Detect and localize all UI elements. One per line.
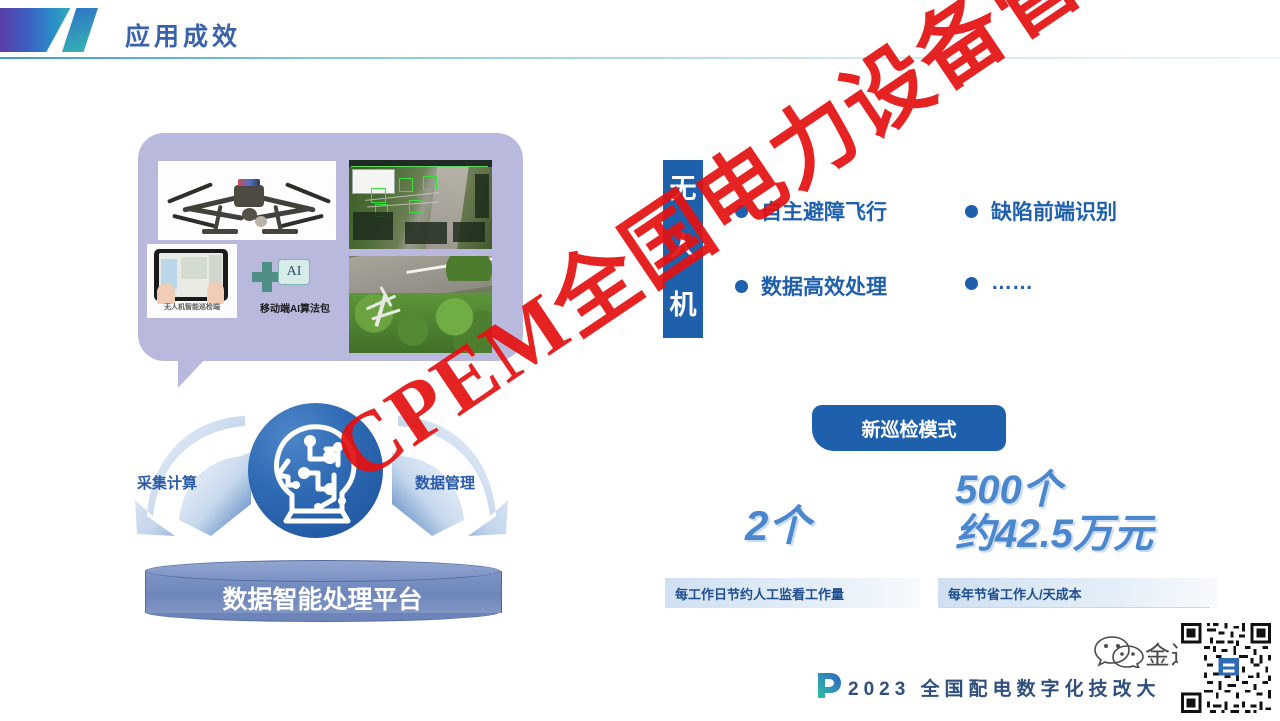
bullet-label: ……	[991, 271, 1033, 295]
bullet-dot-icon	[735, 205, 748, 218]
bullet-label: 缺陷前端识别	[991, 196, 1117, 226]
ai-head-icon	[248, 403, 383, 538]
tablet-photo: 无人机智能巡检端	[147, 244, 237, 318]
new-inspection-mode-pill: 新巡检模式	[812, 405, 1006, 451]
bullet-dot-icon	[965, 205, 978, 218]
bullet-dot-icon	[965, 277, 978, 290]
wechat-icon	[1093, 634, 1145, 668]
tablet-caption: 无人机智能巡检端	[147, 302, 237, 312]
bullet-item: 缺陷前端识别	[965, 196, 1117, 226]
drone-label-char-2: 人	[663, 218, 703, 276]
bullet-item: 自主避障飞行	[735, 196, 887, 226]
data-platform-cylinder: 数据智能处理平台	[145, 560, 500, 622]
drone-label-char-1: 无	[663, 160, 703, 218]
qr-code	[1178, 620, 1274, 716]
stat-value-2-line2: 约42.5万元	[955, 512, 1153, 556]
drone-vertical-label: 无 人 机	[663, 160, 703, 338]
data-management-label: 数据管理	[415, 472, 475, 493]
drone-label-char-3: 机	[663, 276, 703, 334]
ai-algorithm-caption: 移动端AI算法包	[240, 300, 350, 315]
data-platform-label: 数据智能处理平台	[145, 580, 500, 616]
header-divider	[0, 57, 1280, 59]
stat-value-1: 2个	[745, 492, 810, 553]
bullet-item: ……	[965, 271, 1033, 295]
p-logo-icon	[816, 671, 842, 699]
stat-caption-1: 每工作日节约人工监看工作量	[665, 578, 920, 608]
pole-aerial-photo	[349, 256, 492, 353]
footer-title: 2023 全国配电数字化技改大	[848, 674, 1161, 701]
drone-photo	[158, 161, 336, 240]
collect-compute-label: 采集计算	[137, 472, 197, 493]
stat-caption-2: 每年节省工作人/天成本	[938, 578, 1218, 608]
bullet-label: 数据高效处理	[761, 271, 887, 301]
bullet-label: 自主避障飞行	[761, 196, 887, 226]
stat-caption-rule	[938, 607, 1210, 608]
page-title: 应用成效	[125, 17, 241, 53]
slide-root: 应用成效 无人机智能巡检端	[0, 0, 1280, 720]
ai-badge: AI	[278, 259, 310, 285]
header-slash-icon	[62, 8, 98, 52]
cylinder-top	[145, 560, 500, 582]
callout-panel-tail	[178, 358, 206, 388]
aerial-detection-screenshot	[349, 160, 492, 249]
stat-value-2: 500个 约42.5万元	[955, 468, 1153, 556]
bullet-item: 数据高效处理	[735, 271, 887, 301]
bullet-dot-icon	[735, 280, 748, 293]
stat-value-2-line1: 500个	[955, 468, 1153, 512]
